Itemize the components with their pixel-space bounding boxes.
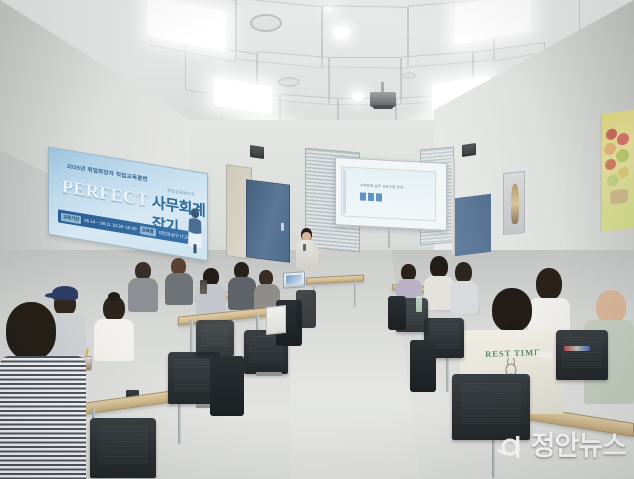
framed-artwork-small — [503, 171, 525, 235]
support-pole — [452, 158, 455, 254]
hair-bun — [108, 292, 120, 301]
framed-artwork-fruit — [600, 110, 634, 233]
classroom-photo: 2025년 취업희망자 직업교육훈련 PERFECT 사무회계잡기 취업성공패키… — [0, 0, 634, 479]
chair — [196, 320, 234, 356]
desk-leg — [354, 281, 356, 307]
head — [596, 290, 626, 324]
head — [6, 302, 56, 360]
wall-speaker-icon — [462, 143, 476, 157]
wall-accent-navy — [455, 194, 491, 256]
ceiling-vent-icon — [250, 14, 282, 32]
laptop — [283, 271, 305, 289]
downlight — [352, 92, 364, 101]
downlight — [333, 26, 350, 39]
audience-member — [94, 296, 134, 358]
head — [430, 256, 448, 278]
chair — [556, 330, 608, 380]
slide-chart-blocks — [360, 192, 382, 201]
news-logo-icon — [497, 431, 527, 461]
backpack — [210, 356, 244, 416]
projection-screen: 사무회계 실무 프로그램 안내 — [335, 157, 447, 231]
chair-base — [256, 372, 282, 376]
ceiling-vent-icon — [402, 72, 416, 79]
baseball-cap — [52, 286, 78, 300]
watermark-text: 정안뉴스 — [531, 433, 626, 460]
desk-items-right — [564, 346, 590, 351]
body — [228, 277, 256, 310]
paper-shopping-bag — [266, 305, 286, 335]
water-bottle — [416, 296, 422, 312]
desk-leg — [190, 320, 193, 354]
watermark: 정안뉴스 — [497, 431, 626, 461]
presentation-slide: 사무회계 실무 프로그램 안내 — [341, 166, 436, 221]
slide-title: 사무회계 실무 프로그램 안내 — [360, 182, 403, 189]
chair — [90, 418, 156, 478]
audience-member — [228, 262, 256, 308]
presenter — [294, 228, 320, 276]
striped-pattern — [0, 356, 86, 479]
banner-figure-illustration — [185, 205, 205, 256]
tumbler — [200, 280, 207, 294]
screen-support — [388, 228, 390, 248]
body — [165, 273, 193, 305]
body — [0, 356, 86, 479]
banner-info-label-1: 교육기간 — [61, 212, 81, 223]
door-panel-navy[interactable] — [246, 179, 290, 262]
microphone-icon — [303, 244, 306, 251]
banner-info-label-2: 교육장 — [140, 225, 156, 236]
audience-member-striped — [0, 302, 86, 479]
ceiling-vent-icon — [278, 77, 300, 87]
ceiling-projector — [370, 92, 396, 107]
audience-member — [165, 258, 193, 304]
backpack — [296, 290, 316, 328]
bag — [410, 340, 436, 392]
slide-sidebar — [343, 169, 346, 213]
wall-speaker-icon — [250, 145, 264, 159]
head — [455, 262, 472, 283]
bag — [388, 296, 406, 330]
body — [94, 319, 134, 361]
downlight — [325, 6, 334, 13]
